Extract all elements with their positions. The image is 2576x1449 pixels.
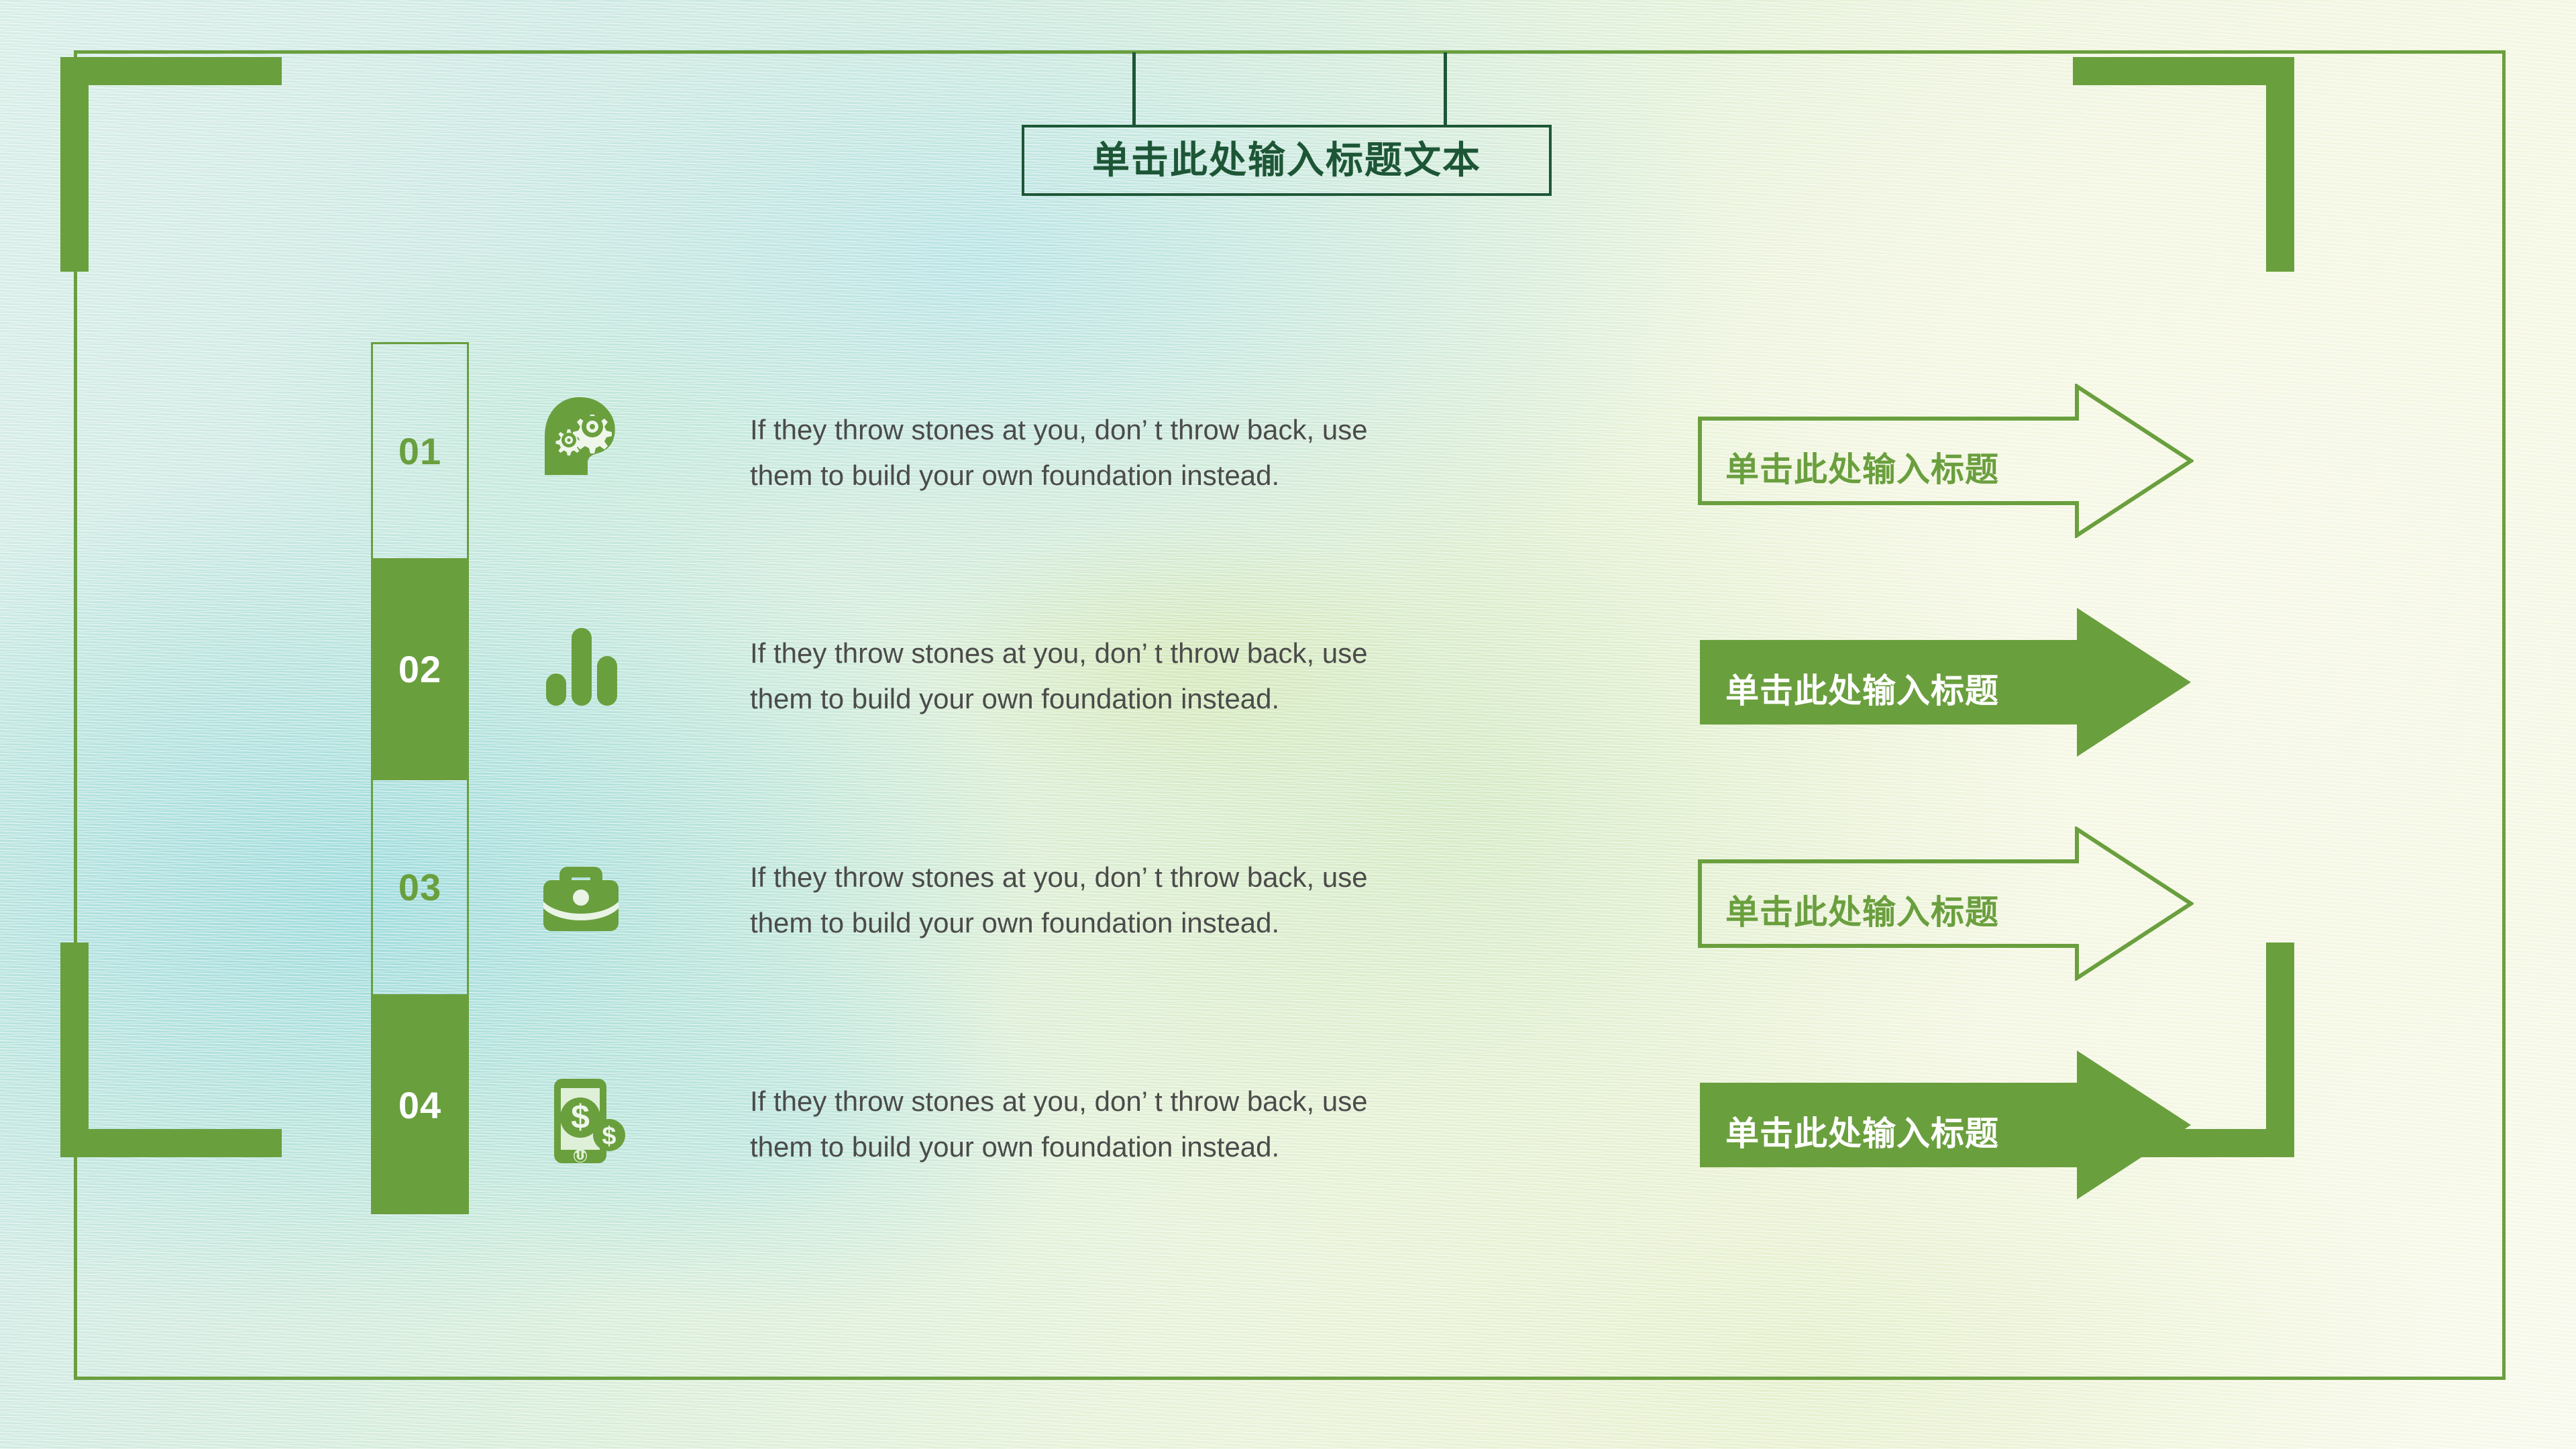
frame-line-right: [2502, 50, 2506, 1380]
row-text-03-line1: If they throw stones at you, don’ t thro…: [750, 855, 1575, 900]
step-number-column: 01 02 03 04: [371, 342, 469, 1214]
slide-canvas: 单击此处输入标题文本 01 02 03 04: [0, 0, 2576, 1449]
row-text-04-line2: them to build your own foundation instea…: [750, 1124, 1575, 1170]
page-title-box: 单击此处输入标题文本: [1022, 125, 1552, 196]
page-title: 单击此处输入标题文本: [1092, 142, 1481, 179]
row-text-04-line1: If they throw stones at you, don’ t thro…: [750, 1079, 1575, 1124]
mobile-payment-icon: $ $: [542, 1073, 628, 1167]
arrow-callout-03[interactable]: 单击此处输入标题: [1697, 826, 2194, 981]
arrow-label-01: 单击此处输入标题: [1725, 443, 1999, 491]
arrow-callout-01[interactable]: 单击此处输入标题: [1697, 384, 2194, 538]
svg-text:$: $: [602, 1122, 616, 1150]
row-text-04: If they throw stones at you, don’ t thro…: [750, 1079, 1575, 1170]
step-number-03[interactable]: 03: [371, 778, 469, 996]
bar-chart-icon: [541, 616, 621, 710]
frame-line-bottom: [74, 1377, 2506, 1380]
arrow-label-04: 单击此处输入标题: [1725, 1107, 1999, 1155]
arrow-callout-02[interactable]: 单击此处输入标题: [1697, 605, 2194, 759]
step-number-04-label: 04: [398, 1083, 441, 1127]
svg-text:$: $: [571, 1098, 590, 1136]
frame-line-top: [74, 50, 2506, 54]
row-text-01-line2: them to build your own foundation instea…: [750, 453, 1575, 498]
arrow-label-02: 单击此处输入标题: [1725, 664, 1999, 712]
row-text-03: If they throw stones at you, don’ t thro…: [750, 855, 1575, 946]
row-text-01: If they throw stones at you, don’ t thro…: [750, 407, 1575, 498]
row-text-01-line1: If they throw stones at you, don’ t thro…: [750, 407, 1575, 453]
row-text-02-line1: If they throw stones at you, don’ t thro…: [750, 631, 1575, 676]
row-text-03-line2: them to build your own foundation instea…: [750, 900, 1575, 946]
row-text-02: If they throw stones at you, don’ t thro…: [750, 631, 1575, 722]
step-number-04[interactable]: 04: [371, 996, 469, 1214]
step-number-01-label: 01: [398, 429, 441, 473]
title-connector-left: [1132, 52, 1136, 127]
step-number-02-label: 02: [398, 647, 441, 691]
briefcase-icon: [538, 851, 624, 936]
step-number-03-label: 03: [398, 865, 441, 909]
title-connector-right: [1444, 52, 1447, 127]
step-number-02[interactable]: 02: [371, 560, 469, 778]
arrow-label-03: 单击此处输入标题: [1725, 885, 1999, 934]
step-number-01[interactable]: 01: [371, 342, 469, 560]
arrow-callout-04[interactable]: 单击此处输入标题: [1697, 1048, 2194, 1202]
head-with-gears-icon: [535, 388, 624, 482]
row-text-02-line2: them to build your own foundation instea…: [750, 676, 1575, 722]
